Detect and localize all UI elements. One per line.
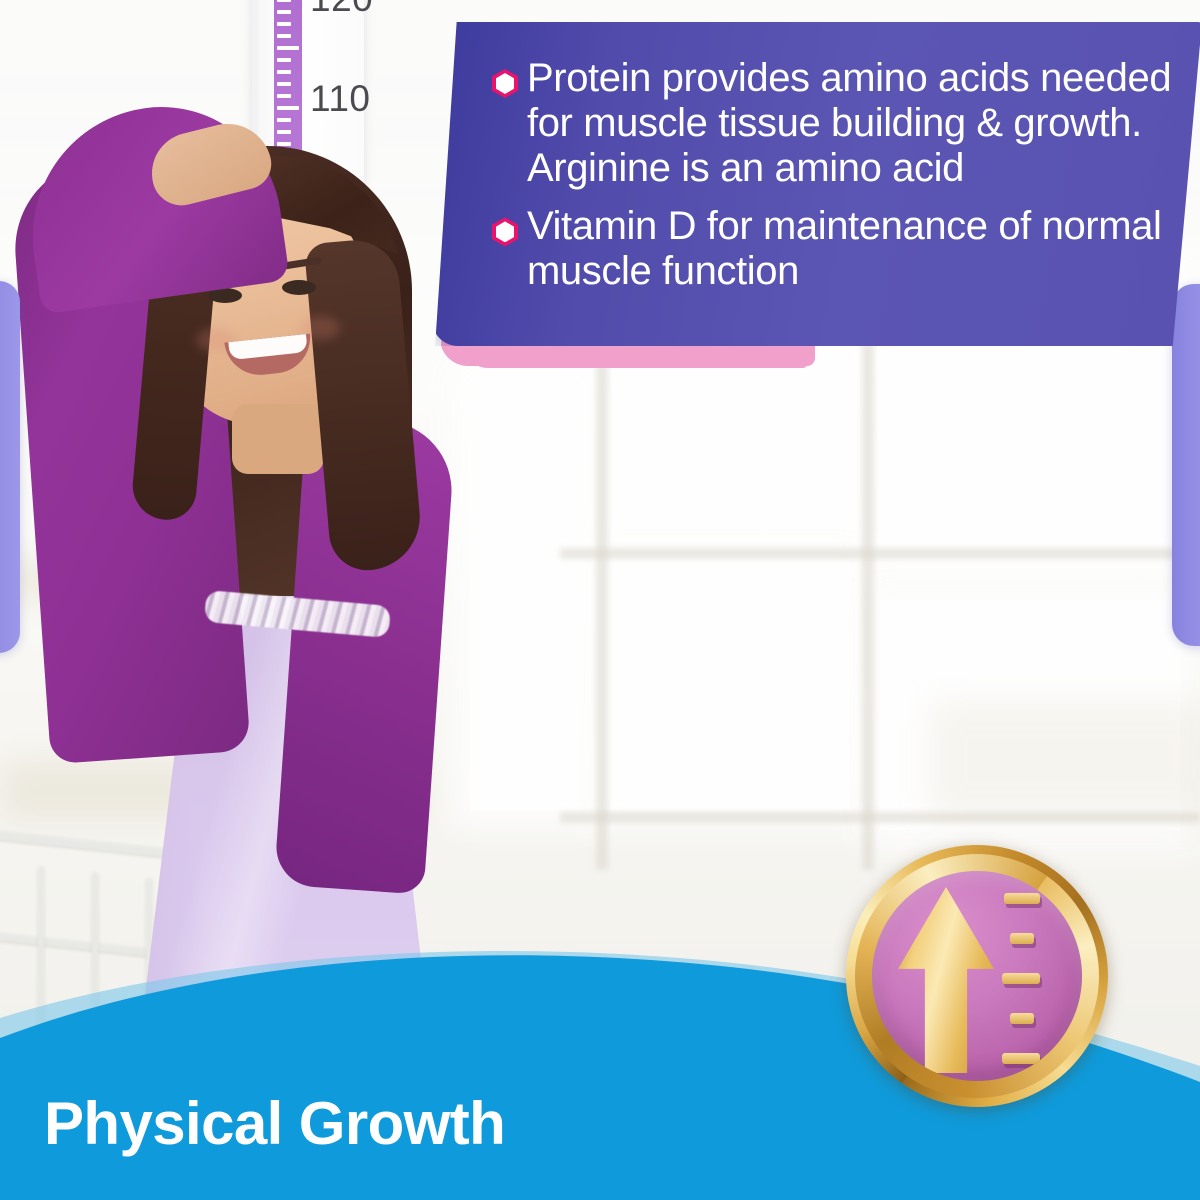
page-title: Physical Growth	[44, 1089, 505, 1158]
badge-face	[872, 871, 1082, 1081]
callout-panel: Protein provides amino acids needed for …	[432, 22, 1200, 346]
ruler-tick-icon	[1010, 933, 1034, 944]
benefit-text-protein: Protein provides amino acids needed for …	[527, 56, 1172, 190]
growth-badge	[846, 845, 1108, 1107]
eye-right	[282, 280, 316, 295]
up-arrow-icon	[898, 887, 994, 1073]
hexagon-bullet-icon	[492, 217, 518, 246]
window-mullion	[560, 548, 1200, 559]
benefits-callout: Protein provides amino acids needed for …	[432, 22, 1200, 370]
growth-promo-card: 120 110 Protei	[0, 0, 1200, 1200]
height-chart-label-120: 120	[310, 0, 373, 20]
ruler-tick-icon	[1002, 973, 1040, 984]
height-chart-label-110: 110	[310, 78, 371, 120]
benefit-item: Vitamin D for maintenance of normal musc…	[492, 204, 1172, 294]
hexagon-bullet-icon	[492, 69, 518, 98]
benefit-item: Protein provides amino acids needed for …	[492, 56, 1172, 190]
window-pane	[600, 560, 850, 810]
warm-light-blur	[930, 700, 1200, 820]
ruler-tick-icon	[1010, 1013, 1034, 1024]
left-accent-bar	[0, 281, 20, 653]
neck	[232, 404, 324, 474]
ruler-tick-icon	[1002, 1053, 1040, 1064]
raised-arm	[16, 92, 290, 315]
benefit-text-vitamin-d: Vitamin D for maintenance of normal musc…	[527, 204, 1172, 294]
ruler-tick-icon	[1004, 893, 1040, 904]
